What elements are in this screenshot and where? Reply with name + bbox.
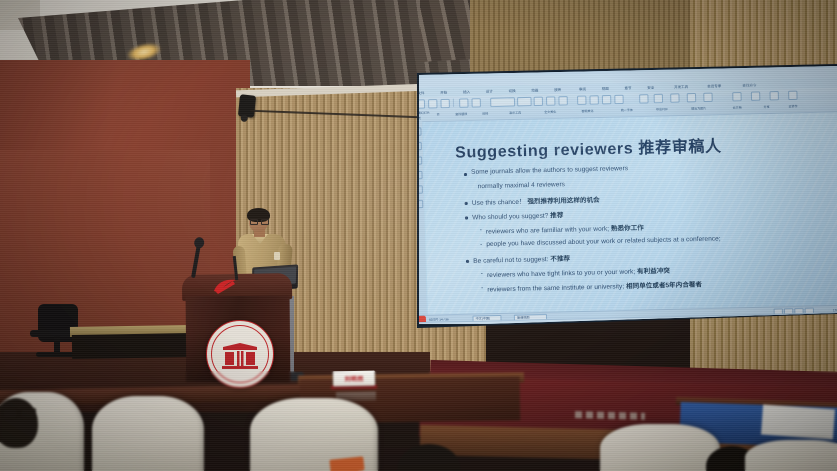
textbox-button[interactable] (654, 94, 664, 104)
align-button[interactable] (602, 95, 612, 105)
bullet-text: Be careful not to suggest: 不推荐 (473, 253, 570, 265)
slide-panel-icon[interactable] (419, 142, 422, 150)
redo-button[interactable] (471, 98, 481, 108)
paste-button[interactable] (419, 99, 425, 109)
bullet-text: reviewers who have tight links to you or… (487, 265, 670, 279)
screenshot-root: 未登录账号 WPS 演示 论文写作培训 审稿人-科技论 (0, 0, 837, 471)
menu-item-transition[interactable]: 切换 (508, 88, 515, 93)
seal-emblem (221, 343, 259, 369)
bullet-marker (465, 216, 468, 219)
ceiling-speaker-icon (238, 94, 256, 118)
select-label[interactable]: 选择 (482, 111, 488, 115)
comment-icon[interactable] (419, 156, 422, 164)
format-brush-button[interactable] (428, 99, 438, 109)
select-button[interactable] (751, 91, 761, 101)
bullet-text: Some journals allow the authors to sugge… (471, 165, 628, 176)
projection-screen[interactable]: 未登录账号 WPS 演示 论文写作培训 审稿人-科技论 (419, 66, 837, 324)
smartart-button[interactable] (687, 93, 697, 103)
underline-button[interactable] (558, 96, 568, 106)
menu-item-file[interactable]: 文件 (419, 90, 425, 95)
wordart-button[interactable] (670, 93, 680, 103)
beautify-button[interactable] (788, 91, 798, 101)
search-input[interactable]: 查找命令 (742, 82, 756, 88)
bullet-text: reviewers who are familiar with your wor… (486, 223, 644, 236)
font-size-select[interactable] (517, 97, 532, 107)
new-slide-label[interactable]: 新建幻灯片 (419, 111, 430, 115)
pen-icon[interactable] (419, 185, 423, 193)
bullet-text: reviewers from the same institute or uni… (487, 279, 702, 293)
outline-icon[interactable] (419, 127, 422, 135)
seat-back (600, 424, 720, 471)
slide-title: Suggesting reviewers 推荐审稿人 (455, 134, 722, 163)
desk-paper (761, 405, 835, 440)
search-icon[interactable] (419, 171, 423, 179)
cloud-doc-label[interactable]: 云文档 (733, 105, 742, 109)
bullet-text: normally maximal 4 reviewers (478, 181, 565, 190)
bullet-text: people you have discussed about your wor… (486, 235, 721, 248)
menu-item-review[interactable]: 审阅 (579, 86, 586, 91)
university-seal-icon (206, 320, 274, 388)
bullet-text: Use this chance！ 强烈推荐利用这样的机会 (472, 195, 600, 207)
dash-marker: - (480, 226, 482, 233)
menu-item-animation[interactable]: 动画 (531, 87, 538, 92)
bullet-marker (464, 173, 467, 176)
projected-desktop: 未登录账号 WPS 演示 论文写作培训 审稿人-科技论 (419, 66, 837, 324)
bold-button[interactable] (534, 97, 544, 107)
bullet-marker (466, 260, 469, 263)
name-placard: 刘明然 (333, 371, 375, 387)
speaker-badge (274, 252, 280, 260)
export-pdf-label[interactable]: 导出PDF (656, 107, 668, 111)
present-tools-label[interactable]: 演示工具 (509, 111, 521, 115)
menu-item-design[interactable]: 设计 (486, 88, 493, 93)
numbering-button[interactable] (589, 95, 599, 105)
cut-button[interactable] (440, 99, 450, 109)
full-beautify-label[interactable]: 全文美化 (544, 110, 556, 114)
cloud-collab-label[interactable]: 云协作 (788, 104, 797, 108)
dash-marker: - (480, 241, 482, 248)
bullet-text: Who should you suggest? 推荐 (472, 210, 563, 221)
shape-button[interactable] (639, 94, 649, 104)
more-icon[interactable] (419, 200, 423, 208)
speaker-glasses-icon (250, 219, 267, 223)
menu-item-home[interactable]: 开始 (440, 90, 447, 95)
lecture-hall-scene: 未登录账号 WPS 演示 论文写作培训 审稿人-科技论 (0, 0, 837, 471)
menu-item-section[interactable]: 章节 (624, 85, 631, 90)
placard-name: 刘明然 (333, 374, 375, 384)
menu-item-member[interactable]: 会员专享 (707, 83, 721, 89)
attendee-glasses-icon (2, 408, 36, 417)
bullet-marker (465, 202, 468, 205)
smart-beautify-label[interactable]: 智能美化 (581, 109, 593, 113)
section-label[interactable]: 节 (437, 112, 440, 116)
share-label[interactable]: 分享 (764, 105, 770, 109)
menu-item-view[interactable]: 视图 (602, 86, 609, 91)
bullets-button[interactable] (577, 96, 587, 106)
menu-item-slideshow[interactable]: 放映 (554, 87, 561, 92)
seat-back (745, 440, 837, 471)
dash-marker: - (481, 284, 483, 291)
stage-desk-body (72, 333, 192, 359)
menu-item-insert[interactable]: 插入 (463, 89, 470, 94)
picture-button[interactable] (703, 93, 713, 103)
toolbar-divider (453, 99, 454, 107)
export-image-label[interactable]: 输出为图片 (691, 106, 706, 110)
dash-marker: - (481, 270, 483, 277)
find-replace-label[interactable]: 查找替换 (455, 112, 467, 116)
taskbar-search-input[interactable]: 搜索 (431, 323, 481, 324)
attendee-phone (329, 456, 364, 471)
menu-item-security[interactable]: 安全 (647, 85, 654, 90)
line-spacing-button[interactable] (614, 95, 624, 105)
layout-label[interactable]: 版式 (419, 116, 421, 120)
unify-font-label[interactable]: 统一字体 (621, 108, 633, 112)
seat-back (92, 396, 204, 471)
italic-button[interactable] (546, 96, 556, 106)
attendee-head (0, 398, 38, 448)
undo-button[interactable] (459, 98, 469, 108)
slide-canvas[interactable]: Suggesting reviewers 推荐审稿人 Some journals… (423, 112, 837, 315)
find-replace-button[interactable] (732, 92, 742, 102)
menu-item-devtools[interactable]: 开发工具 (674, 84, 688, 90)
presentation-tools-button[interactable] (769, 91, 779, 101)
